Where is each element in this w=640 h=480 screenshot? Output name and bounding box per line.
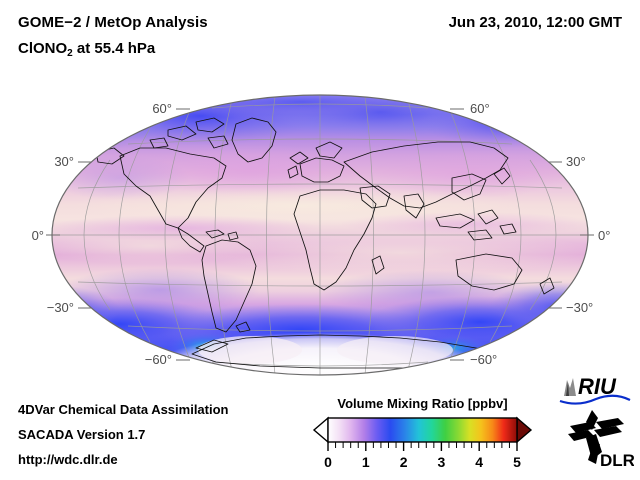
data-field — [0, 84, 630, 378]
lat-label-30s-left: −30° — [47, 300, 74, 315]
lat-label-60n-left: 60° — [152, 101, 172, 116]
lat-label-0-right: 0° — [598, 228, 610, 243]
footer-version-label: SACADA Version 1.7 — [18, 427, 145, 442]
lat-label-60n-right: 60° — [470, 101, 490, 116]
colorbar-minor-ticks — [336, 442, 510, 448]
lat-label-30n-left: 30° — [54, 154, 74, 169]
species-level-label: ClONO2 at 55.4 hPa — [18, 40, 155, 57]
species-name: ClONO — [18, 40, 67, 57]
colorbar-tick-label-4: 4 — [475, 454, 483, 470]
lat-label-60s-left: −60° — [145, 352, 172, 367]
colorbar-tick-label-2: 2 — [400, 454, 408, 470]
page-title: GOME−2 / MetOp Analysis — [18, 14, 208, 31]
footer-method-label: 4DVar Chemical Data Assimilation — [18, 402, 229, 417]
timestamp-label: Jun 23, 2010, 12:00 GMT — [449, 14, 622, 31]
pressure-level: at 55.4 hPa — [73, 40, 156, 57]
map-panel: 60° 30° 0° −30° −60° 60° 30° 0° −30° −60… — [0, 78, 640, 378]
footer-url-link[interactable]: http://wdc.dlr.de — [18, 452, 118, 467]
dlr-logo: DLR — [562, 408, 634, 472]
dlr-logo-text: DLR — [600, 451, 634, 470]
colorbar-tick-label-0: 0 — [324, 454, 332, 470]
figure-root: GOME−2 / MetOp Analysis ClONO2 at 55.4 h… — [0, 0, 640, 480]
lat-label-60s-right: −60° — [470, 352, 497, 367]
colorbar-min-arrow — [314, 418, 328, 442]
colorbar-max-arrow — [517, 418, 531, 442]
colorbar-tick-label-1: 1 — [362, 454, 370, 470]
lat-label-0-left: 0° — [32, 228, 44, 243]
colorbar-panel: Volume Mixing Ratio [ppbv] — [310, 396, 535, 472]
colorbar-major-ticks — [328, 442, 517, 451]
riu-peak-icon — [564, 378, 576, 396]
colorbar-title: Volume Mixing Ratio [ppbv] — [310, 396, 535, 411]
riu-logo: RIU — [556, 374, 634, 406]
colorbar-tick-label-5: 5 — [513, 454, 521, 470]
colorbar-gradient — [328, 418, 517, 442]
colorbar: 0 1 2 3 4 5 — [310, 415, 535, 473]
world-map: 60° 30° 0° −30° −60° 60° 30° 0° −30° −60… — [0, 78, 640, 378]
lat-label-30s-right: −30° — [566, 300, 593, 315]
species-subscript: 2 — [67, 48, 73, 59]
colorbar-tick-label-3: 3 — [438, 454, 446, 470]
lat-label-30n-right: 30° — [566, 154, 586, 169]
